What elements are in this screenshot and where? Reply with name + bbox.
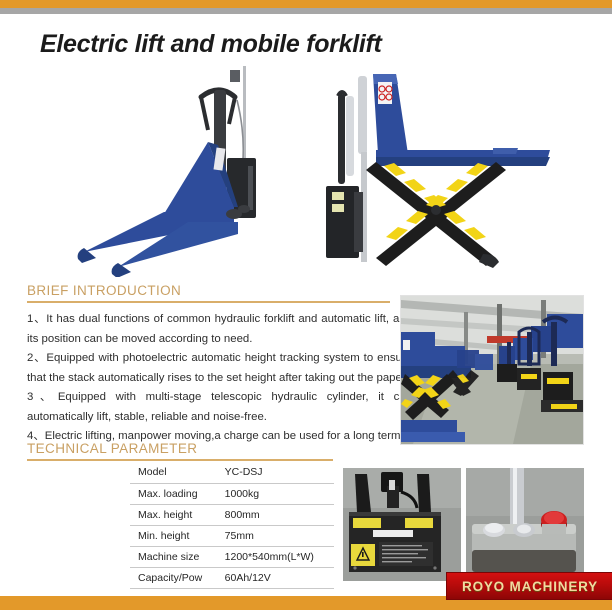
table-row: Machine size 1200*540mm(L*W): [130, 546, 334, 567]
spec-value: YC-DSJ: [217, 462, 334, 483]
warehouse-photo: [400, 295, 584, 445]
company-logo-text: ROYO MACHINERY: [462, 579, 598, 594]
brief-introduction-rule: [27, 301, 390, 303]
spec-value: 1200*540mm(L*W): [217, 546, 334, 567]
spec-key: Max. loading: [130, 483, 217, 504]
table-row: Max. height 800mm: [130, 504, 334, 525]
spec-value: 800mm: [217, 504, 334, 525]
spec-value: 60Ah/12V: [217, 567, 334, 588]
spec-key: Capacity/Pow: [130, 567, 217, 588]
brief-item-2: 2、Equipped with photoelectric automatic …: [27, 349, 412, 388]
spec-value: 1000kg: [217, 483, 334, 504]
product-datasheet-page: Electric lift and mobile forklift: [0, 0, 612, 610]
hero-image-row: [0, 62, 612, 277]
detail-photo-control-box: [343, 468, 461, 581]
top-gray-band: [0, 8, 612, 14]
spec-key: Max. height: [130, 504, 217, 525]
spec-key: Min. height: [130, 525, 217, 546]
spec-value: 75mm: [217, 525, 334, 546]
spec-table: Model YC-DSJ Max. loading 1000kg Max. he…: [130, 462, 334, 589]
top-orange-band: [0, 0, 612, 8]
table-row: Model YC-DSJ: [130, 462, 334, 483]
table-row: Min. height 75mm: [130, 525, 334, 546]
table-row: Max. loading 1000kg: [130, 483, 334, 504]
technical-parameter-heading: TECHNICAL PARAMETER: [27, 441, 197, 456]
detail-photo-control-panel: [466, 468, 584, 581]
hero-right-photo: [318, 62, 603, 277]
technical-parameter-rule: [27, 459, 333, 461]
company-logo: ROYO MACHINERY: [446, 572, 612, 600]
hero-left-photo: [38, 62, 318, 277]
brief-item-3: 3、Equipped with multi-stage telescopic h…: [27, 388, 412, 427]
table-row: Capacity/Pow 60Ah/12V: [130, 567, 334, 588]
brief-item-1: 1、It has dual functions of common hydrau…: [27, 310, 412, 349]
brief-introduction-body: 1、It has dual functions of common hydrau…: [27, 310, 412, 447]
page-title: Electric lift and mobile forklift: [40, 30, 382, 59]
spec-key: Machine size: [130, 546, 217, 567]
brief-introduction-heading: BRIEF INTRODUCTION: [27, 283, 181, 298]
spec-key: Model: [130, 462, 217, 483]
